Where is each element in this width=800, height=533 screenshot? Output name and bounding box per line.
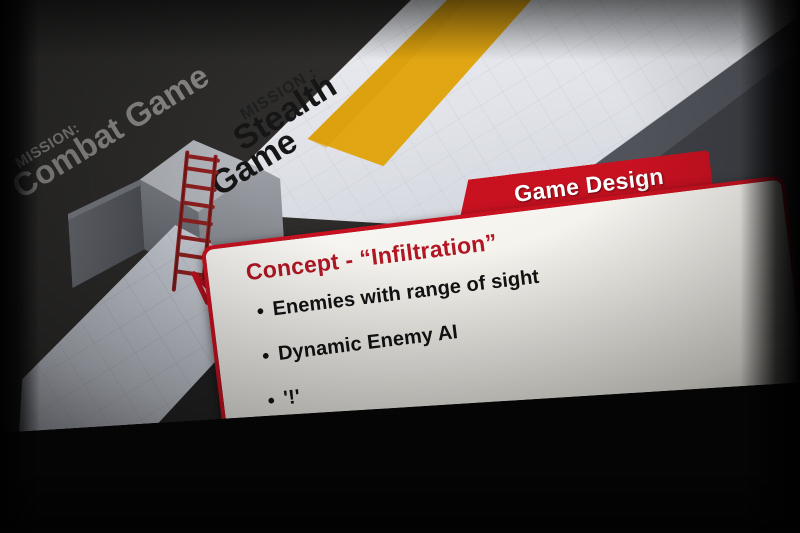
photo-edge-shading-bottom [0, 463, 800, 533]
slide-surface: MISSION: Combat Game MISSION : Stealth G… [0, 0, 800, 433]
list-item-label: Dynamic Enemy AI [277, 321, 459, 366]
list-item-label: '!' [282, 386, 301, 411]
callout-body: Concept - “Infiltration” • Enemies with … [201, 175, 800, 433]
projection-screen: MISSION: Combat Game MISSION : Stealth G… [0, 0, 800, 433]
screenshot-root: MISSION: Combat Game MISSION : Stealth G… [0, 0, 800, 533]
